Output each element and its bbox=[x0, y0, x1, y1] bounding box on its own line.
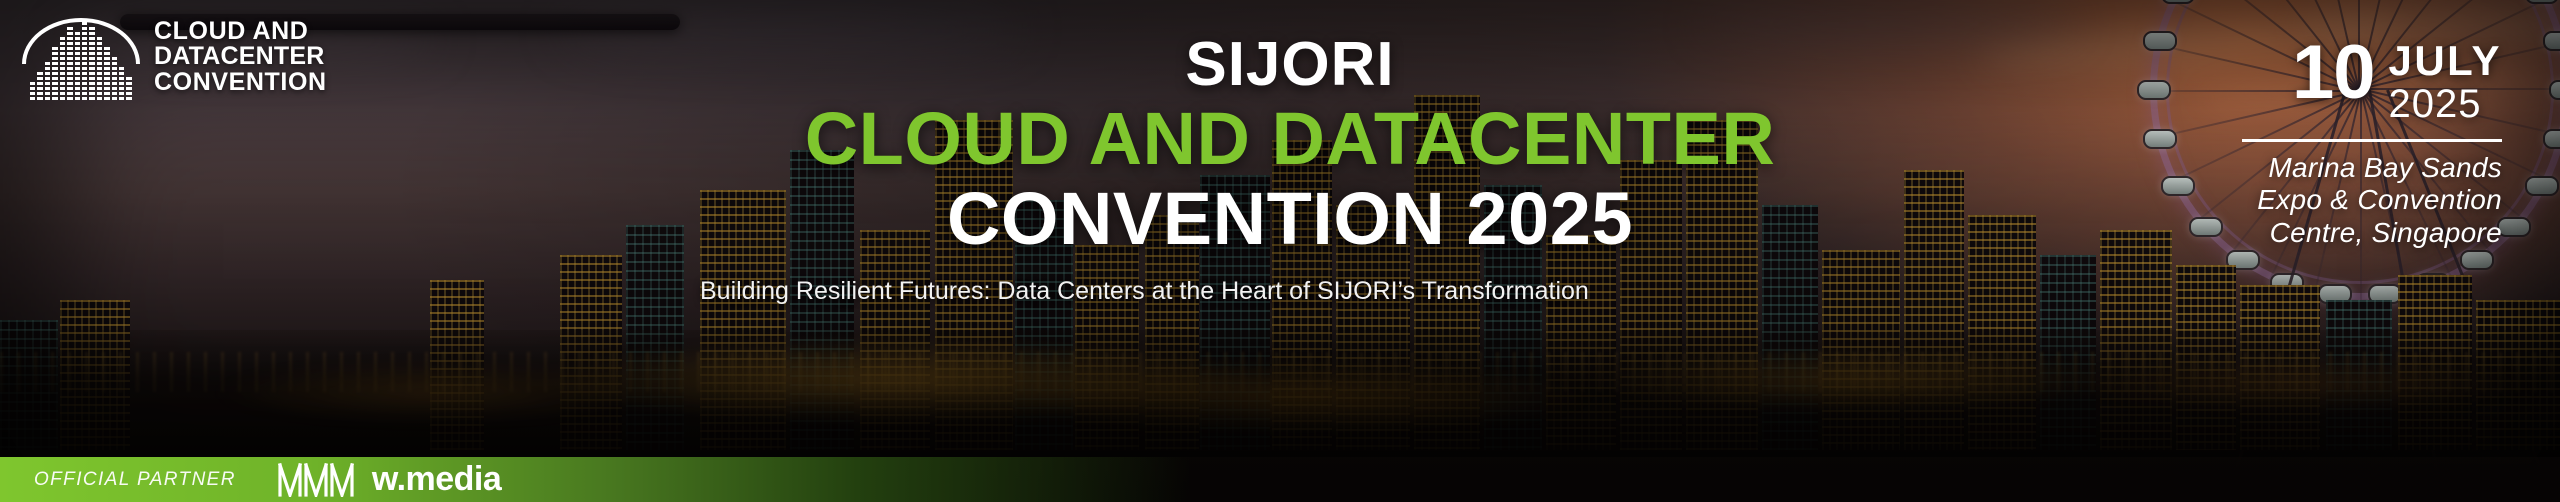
logo-line-3: CONVENTION bbox=[154, 70, 327, 96]
logo-line-1: CLOUD AND bbox=[154, 19, 327, 45]
venue-line-1: Marina Bay Sands bbox=[2062, 152, 2502, 184]
event-month-year: JULY 2025 bbox=[2388, 38, 2502, 127]
logo-equalizer-column bbox=[112, 57, 117, 100]
logo-equalizer-column bbox=[60, 37, 65, 100]
logo-equalizer-column bbox=[104, 47, 109, 100]
logo-equalizer-column bbox=[126, 77, 131, 100]
event-date: 10 JULY 2025 bbox=[2062, 38, 2502, 127]
ccdc-logo-mark-icon bbox=[22, 14, 140, 100]
event-date-venue-block: 10 JULY 2025 Marina Bay Sands Expo & Con… bbox=[2062, 38, 2502, 249]
headline-line-2: CLOUD AND DATACENTER bbox=[470, 100, 2110, 178]
event-subtitle: Building Resilient Futures: Data Centers… bbox=[700, 275, 1880, 307]
logo-equalizer-building-icon bbox=[30, 42, 132, 100]
logo-equalizer-column bbox=[45, 62, 50, 100]
ccdc-logo[interactable]: CLOUD AND DATACENTER CONVENTION bbox=[22, 14, 327, 100]
event-month: JULY bbox=[2388, 40, 2502, 82]
event-venue: Marina Bay Sands Expo & Convention Centr… bbox=[2062, 152, 2502, 249]
headline-block: SIJORI CLOUD AND DATACENTER CONVENTION 2… bbox=[470, 34, 2110, 307]
venue-line-3: Centre, Singapore bbox=[2062, 217, 2502, 249]
event-banner: CLOUD AND DATACENTER CONVENTION SIJORI C… bbox=[0, 0, 2560, 502]
logo-equalizer-column bbox=[75, 32, 80, 100]
logo-equalizer-column bbox=[67, 27, 72, 100]
logo-equalizer-column bbox=[119, 67, 124, 100]
logo-equalizer-column bbox=[37, 72, 42, 100]
subtitle-wrapper: Building Resilient Futures: Data Centers… bbox=[470, 259, 2110, 307]
headline-line-3: CONVENTION 2025 bbox=[470, 180, 2110, 258]
date-venue-divider bbox=[2242, 139, 2502, 142]
logo-equalizer-column bbox=[97, 37, 102, 100]
official-partner-bar: OFFICIAL PARTNER w bbox=[0, 457, 1190, 502]
event-day: 10 bbox=[2292, 38, 2375, 108]
ccdc-logo-text: CLOUD AND DATACENTER CONVENTION bbox=[154, 19, 327, 96]
logo-equalizer-column bbox=[82, 22, 87, 100]
venue-line-2: Expo & Convention bbox=[2062, 184, 2502, 216]
headline-line-1: SIJORI bbox=[470, 34, 2110, 96]
w-media-zigzag-mark-icon bbox=[276, 463, 362, 497]
logo-equalizer-column bbox=[30, 82, 35, 100]
logo-equalizer-column bbox=[89, 27, 94, 100]
official-partner-label: OFFICIAL PARTNER bbox=[0, 469, 236, 491]
logo-equalizer-column bbox=[52, 47, 57, 100]
logo-line-2: DATACENTER bbox=[154, 44, 327, 70]
w-media-logo[interactable]: w.media bbox=[276, 460, 501, 499]
event-year: 2025 bbox=[2388, 82, 2502, 127]
w-media-wordmark: w.media bbox=[372, 460, 501, 499]
